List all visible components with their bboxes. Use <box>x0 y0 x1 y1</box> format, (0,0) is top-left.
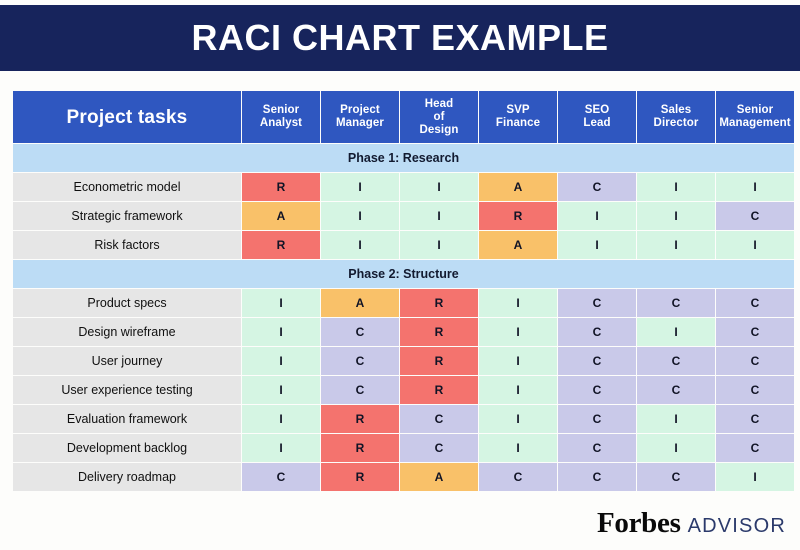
raci-cell: C <box>400 434 478 462</box>
column-header-role-3-line-0: SVP <box>479 104 557 117</box>
raci-cell: C <box>716 202 794 230</box>
task-label: Development backlog <box>13 434 241 462</box>
column-header-role-0-line-0: Senior <box>242 104 320 117</box>
logo-brand: Forbes <box>597 507 681 540</box>
raci-cell: C <box>716 318 794 346</box>
raci-cell: C <box>558 347 636 375</box>
column-header-role-2-line-0: Head <box>400 98 478 111</box>
column-header-role-4-line-1: Lead <box>558 117 636 130</box>
table-row: Risk factorsRIIAIII <box>13 231 794 259</box>
raci-cell: R <box>400 289 478 317</box>
raci-cell: C <box>558 405 636 433</box>
raci-cell: A <box>400 463 478 491</box>
table-row: Delivery roadmapCRACCCI <box>13 463 794 491</box>
task-label: Design wireframe <box>13 318 241 346</box>
raci-cell: I <box>242 318 320 346</box>
raci-chart-page: RACI CHART EXAMPLE Project tasks SeniorA… <box>0 0 800 550</box>
raci-cell: R <box>242 173 320 201</box>
raci-cell: I <box>479 405 557 433</box>
raci-cell: I <box>321 202 399 230</box>
table-row: Evaluation frameworkIRCICIC <box>13 405 794 433</box>
raci-cell: C <box>716 376 794 404</box>
raci-cell: C <box>321 318 399 346</box>
title-banner: RACI CHART EXAMPLE <box>0 5 800 71</box>
raci-cell: R <box>400 376 478 404</box>
raci-cell: I <box>637 318 715 346</box>
raci-cell: C <box>558 173 636 201</box>
raci-cell: R <box>321 434 399 462</box>
raci-table-header: Project tasks SeniorAnalyst ProjectManag… <box>13 91 794 143</box>
task-label: User experience testing <box>13 376 241 404</box>
raci-cell: I <box>242 376 320 404</box>
logo-subbrand: ADVISOR <box>688 515 786 538</box>
task-label: Strategic framework <box>13 202 241 230</box>
raci-cell: I <box>637 405 715 433</box>
raci-cell: I <box>242 347 320 375</box>
page-title: RACI CHART EXAMPLE <box>191 17 608 59</box>
column-header-role-4: SEOLead <box>558 91 636 143</box>
raci-cell: I <box>242 405 320 433</box>
raci-cell: C <box>637 289 715 317</box>
table-row: Design wireframeICRICIC <box>13 318 794 346</box>
raci-cell: R <box>242 231 320 259</box>
raci-cell: C <box>716 289 794 317</box>
task-label: User journey <box>13 347 241 375</box>
raci-table: Project tasks SeniorAnalyst ProjectManag… <box>12 90 795 492</box>
raci-cell: I <box>400 231 478 259</box>
forbes-advisor-logo: Forbes ADVISOR <box>597 507 786 540</box>
raci-cell: A <box>479 231 557 259</box>
column-header-role-5: SalesDirector <box>637 91 715 143</box>
raci-cell: R <box>321 405 399 433</box>
raci-cell: C <box>637 347 715 375</box>
raci-cell: C <box>558 434 636 462</box>
raci-cell: C <box>637 376 715 404</box>
raci-cell: I <box>321 173 399 201</box>
phase-label: Phase 2: Structure <box>13 260 794 288</box>
raci-cell: I <box>716 463 794 491</box>
column-header-project-tasks: Project tasks <box>13 91 241 143</box>
raci-cell: I <box>479 434 557 462</box>
raci-table-container: Project tasks SeniorAnalyst ProjectManag… <box>12 90 788 492</box>
task-label: Delivery roadmap <box>13 463 241 491</box>
raci-cell: I <box>479 376 557 404</box>
phase-label: Phase 1: Research <box>13 144 794 172</box>
column-header-role-6-line-0: Senior <box>716 104 794 117</box>
task-label: Econometric model <box>13 173 241 201</box>
raci-cell: C <box>321 347 399 375</box>
raci-cell: C <box>637 463 715 491</box>
raci-cell: R <box>400 347 478 375</box>
raci-table-body: Phase 1: ResearchEconometric modelRIIACI… <box>13 144 794 491</box>
raci-cell: I <box>479 347 557 375</box>
raci-cell: C <box>321 376 399 404</box>
raci-cell: C <box>558 376 636 404</box>
task-label: Risk factors <box>13 231 241 259</box>
raci-cell: C <box>242 463 320 491</box>
raci-cell: I <box>479 289 557 317</box>
column-header-role-5-line-0: Sales <box>637 104 715 117</box>
raci-cell: I <box>558 202 636 230</box>
raci-cell: C <box>716 347 794 375</box>
raci-cell: C <box>716 405 794 433</box>
header-row: Project tasks SeniorAnalyst ProjectManag… <box>13 91 794 143</box>
task-label: Evaluation framework <box>13 405 241 433</box>
raci-cell: I <box>242 434 320 462</box>
raci-cell: A <box>321 289 399 317</box>
raci-cell: A <box>242 202 320 230</box>
column-header-role-3: SVPFinance <box>479 91 557 143</box>
column-header-role-1-line-0: Project <box>321 104 399 117</box>
column-header-role-2-line-1: of <box>400 111 478 124</box>
raci-cell: I <box>637 202 715 230</box>
raci-cell: I <box>400 173 478 201</box>
raci-cell: I <box>479 318 557 346</box>
raci-cell: I <box>637 231 715 259</box>
raci-cell: C <box>558 318 636 346</box>
column-header-role-1-line-1: Manager <box>321 117 399 130</box>
raci-cell: C <box>558 463 636 491</box>
column-header-role-2: HeadofDesign <box>400 91 478 143</box>
raci-cell: I <box>716 231 794 259</box>
raci-cell: I <box>637 173 715 201</box>
raci-cell: I <box>716 173 794 201</box>
column-header-role-1: ProjectManager <box>321 91 399 143</box>
column-header-role-6-line-1: Management <box>716 117 794 130</box>
column-header-role-3-line-1: Finance <box>479 117 557 130</box>
raci-cell: C <box>479 463 557 491</box>
table-row: User journeyICRICCC <box>13 347 794 375</box>
raci-cell: I <box>321 231 399 259</box>
phase-row: Phase 2: Structure <box>13 260 794 288</box>
table-row: Development backlogIRCICIC <box>13 434 794 462</box>
column-header-role-6: SeniorManagement <box>716 91 794 143</box>
task-label: Product specs <box>13 289 241 317</box>
column-header-role-4-line-0: SEO <box>558 104 636 117</box>
phase-row: Phase 1: Research <box>13 144 794 172</box>
raci-cell: R <box>400 318 478 346</box>
raci-cell: I <box>558 231 636 259</box>
raci-cell: R <box>479 202 557 230</box>
raci-cell: C <box>558 289 636 317</box>
table-row: User experience testingICRICCC <box>13 376 794 404</box>
column-header-role-5-line-1: Director <box>637 117 715 130</box>
table-row: Econometric modelRIIACII <box>13 173 794 201</box>
raci-cell: I <box>242 289 320 317</box>
raci-cell: A <box>479 173 557 201</box>
column-header-role-0: SeniorAnalyst <box>242 91 320 143</box>
column-header-role-2-line-2: Design <box>400 124 478 137</box>
raci-cell: C <box>716 434 794 462</box>
raci-cell: I <box>400 202 478 230</box>
table-row: Product specsIARICCC <box>13 289 794 317</box>
raci-cell: R <box>321 463 399 491</box>
raci-cell: I <box>637 434 715 462</box>
column-header-role-0-line-1: Analyst <box>242 117 320 130</box>
table-row: Strategic frameworkAIIRIIC <box>13 202 794 230</box>
raci-cell: C <box>400 405 478 433</box>
